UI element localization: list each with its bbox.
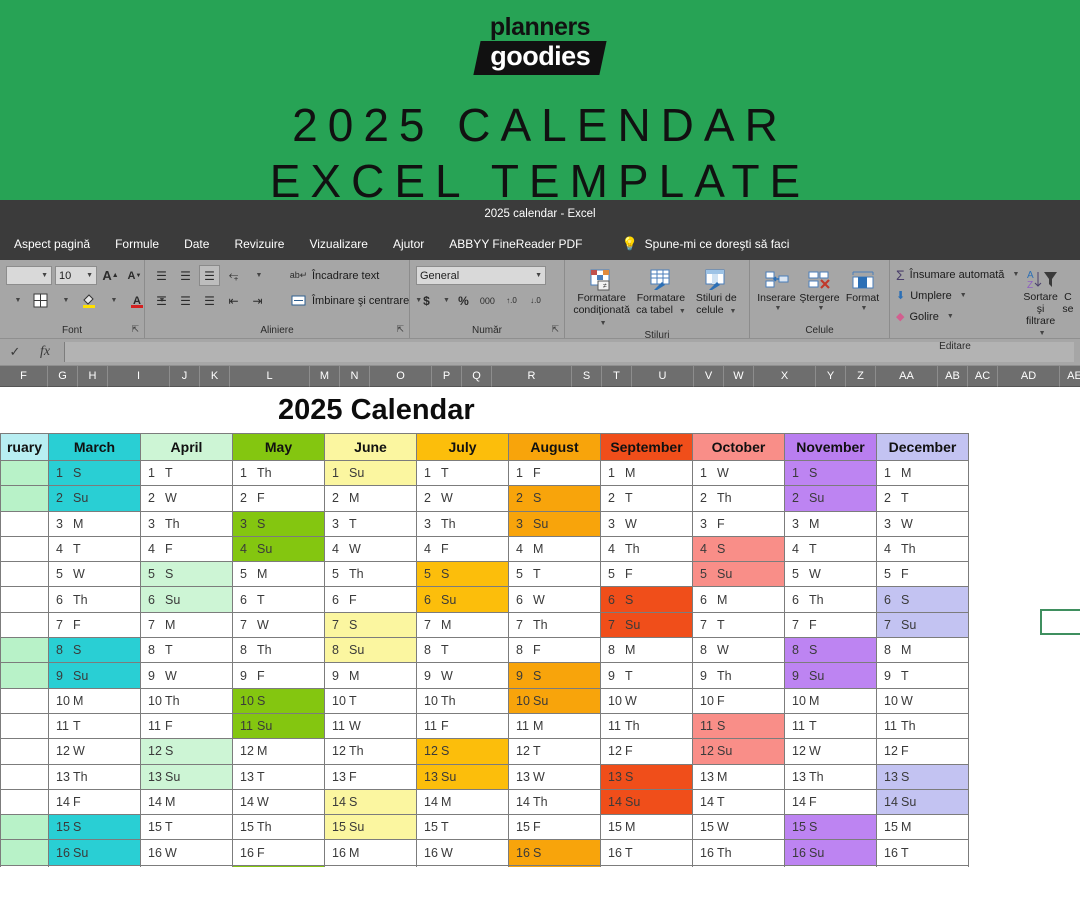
ribbon-tab-aspect-pagina[interactable]: Aspect pagină [14, 237, 90, 251]
calendar-cell[interactable] [1, 739, 49, 764]
calendar-cell[interactable]: 8S [49, 638, 141, 663]
calendar-cell[interactable]: 3S [233, 511, 325, 536]
calendar-cell[interactable]: 8T [141, 638, 233, 663]
ribbon-tab-abbyy-finereader[interactable]: ABBYY FineReader PDF [449, 237, 582, 251]
column-header-u[interactable]: U [632, 366, 694, 387]
calendar-cell[interactable]: 8S [785, 638, 877, 663]
calendar-cell[interactable]: 17Th [141, 865, 233, 867]
font-name-box[interactable]: ▼ [6, 266, 52, 285]
calendar-cell[interactable] [1, 612, 49, 637]
calendar-cell[interactable]: 12W [785, 739, 877, 764]
month-header-may[interactable]: May [233, 434, 325, 461]
cell-styles-button[interactable]: Stiluri de celule ▼ [690, 265, 743, 317]
calendar-cell[interactable]: 5S [417, 562, 509, 587]
align-right-icon[interactable]: ☰ [199, 290, 220, 311]
calendar-cell[interactable]: 11F [417, 713, 509, 738]
weekday-abbr: T [73, 719, 81, 733]
column-header-w[interactable]: W [724, 366, 754, 387]
column-header-l[interactable]: L [230, 366, 310, 387]
calendar-cell[interactable]: 3T [325, 511, 417, 536]
calendar-cell[interactable]: 11F [141, 713, 233, 738]
grow-font-icon[interactable]: A▲ [100, 265, 121, 286]
calendar-cell[interactable]: 6Th [49, 587, 141, 612]
calendar-cell[interactable]: 8M [877, 638, 969, 663]
calendar-cell[interactable]: 6S [601, 587, 693, 612]
calendar-cell[interactable]: 14S [325, 789, 417, 814]
calendar-cell[interactable]: 14Su [601, 789, 693, 814]
font-size-box[interactable]: 10▼ [55, 266, 97, 285]
autosum-caret-icon[interactable]: ▼ [1012, 271, 1019, 278]
calendar-cell[interactable]: 3Su [509, 511, 601, 536]
column-header-t[interactable]: T [602, 366, 632, 387]
font-color-icon[interactable]: A [126, 290, 147, 311]
calendar-cell[interactable]: 5F [877, 562, 969, 587]
calendar-cell[interactable]: 7F [785, 612, 877, 637]
calendar-cell[interactable]: 9T [877, 663, 969, 688]
column-header-x[interactable]: X [754, 366, 816, 387]
calendar-cell[interactable]: 3W [601, 511, 693, 536]
calendar-cell[interactable]: 14Th [509, 789, 601, 814]
borders-icon[interactable] [30, 290, 51, 311]
calendar-cell[interactable]: 11T [49, 713, 141, 738]
calendar-cell[interactable] [1, 486, 49, 511]
calendar-cell[interactable] [1, 562, 49, 587]
calendar-cell[interactable]: 16Su [785, 840, 877, 865]
calendar-cell[interactable]: 17W [877, 865, 969, 867]
column-header-i[interactable]: I [108, 366, 170, 387]
calendar-cell[interactable]: 11S [693, 713, 785, 738]
month-header-june[interactable]: June [325, 434, 417, 461]
calendar-cell[interactable]: 5F [601, 562, 693, 587]
calendar-cell[interactable]: 12T [509, 739, 601, 764]
column-header-j[interactable]: J [170, 366, 200, 387]
calendar-cell[interactable]: 2W [417, 486, 509, 511]
calendar-cell[interactable]: 10Th [141, 688, 233, 713]
calendar-cell[interactable]: 13W [509, 764, 601, 789]
fx-icon[interactable]: fx [30, 339, 60, 366]
calendar-cell[interactable] [1, 865, 49, 867]
calendar-cell[interactable]: 3Th [417, 511, 509, 536]
clear-button[interactable]: ◆ Golire ▼ [896, 306, 1019, 327]
numar-dialog-launcher-icon[interactable]: ⇱ [551, 322, 559, 337]
calendar-cell[interactable]: 15S [785, 815, 877, 840]
calendar-cell[interactable]: 10W [601, 688, 693, 713]
calendar-cell[interactable]: 3Th [141, 511, 233, 536]
calendar-cell[interactable]: 14F [785, 789, 877, 814]
align-top-icon[interactable]: ☰ [151, 265, 172, 286]
calendar-cell[interactable]: 12S [141, 739, 233, 764]
calendar-cell[interactable]: 4Su [233, 536, 325, 561]
calendar-cell[interactable] [1, 789, 49, 814]
calendar-cell[interactable] [1, 511, 49, 536]
column-header-ae[interactable]: AE [1060, 366, 1080, 387]
calendar-cell[interactable]: 13S [601, 764, 693, 789]
calendar-cell[interactable]: 7M [417, 612, 509, 637]
calendar-cell[interactable]: 10W [877, 688, 969, 713]
decrease-indent-icon[interactable]: ⇤ [223, 290, 244, 311]
column-header-k[interactable]: K [200, 366, 230, 387]
orientation-icon[interactable]: ⥆ [223, 265, 244, 286]
align-bottom-icon[interactable]: ☰ [199, 265, 220, 286]
delete-cells-caret-icon[interactable]: ▼ [818, 305, 825, 313]
fill-caret-icon[interactable]: ▼ [960, 292, 967, 299]
calendar-cell[interactable]: 10M [785, 688, 877, 713]
find-select-button[interactable]: C se [1062, 264, 1074, 316]
calendar-cell[interactable]: 2T [601, 486, 693, 511]
calendar-cell[interactable]: 4T [49, 536, 141, 561]
calendar-cell[interactable]: 5Su [693, 562, 785, 587]
column-header-aa[interactable]: AA [876, 366, 938, 387]
calendar-cell[interactable]: 3M [785, 511, 877, 536]
calendar-cell[interactable]: 10S [233, 688, 325, 713]
calendar-cell[interactable]: 8T [417, 638, 509, 663]
calendar-cell[interactable]: 12W [49, 739, 141, 764]
calendar-cell[interactable]: 7Su [601, 612, 693, 637]
calendar-cell[interactable]: 1S [785, 461, 877, 486]
calendar-cell[interactable]: 4F [141, 536, 233, 561]
calendar-cell[interactable]: 2T [877, 486, 969, 511]
calendar-cell[interactable]: 1T [141, 461, 233, 486]
weekday-abbr: W [441, 491, 453, 505]
day-number: 1 [884, 466, 901, 480]
calendar-cell[interactable]: 1M [601, 461, 693, 486]
month-header-august[interactable]: August [509, 434, 601, 461]
calendar-cell[interactable]: 4M [509, 536, 601, 561]
calendar-cell[interactable]: 5T [509, 562, 601, 587]
calendar-cell[interactable]: 13Th [49, 764, 141, 789]
calendar-cell[interactable]: 12F [601, 739, 693, 764]
calendar-cell[interactable]: 6F [325, 587, 417, 612]
weekday-abbr: M [717, 770, 727, 784]
weekday-abbr: Su [349, 466, 364, 480]
calendar-cell[interactable]: 17W [601, 865, 693, 867]
calendar-cell[interactable]: 3M [49, 511, 141, 536]
calendar-cell[interactable]: 3F [693, 511, 785, 536]
month-header-december[interactable]: December [877, 434, 969, 461]
column-header-h[interactable]: H [78, 366, 108, 387]
calendar-cell[interactable]: 2M [325, 486, 417, 511]
calendar-cell[interactable]: 4Th [601, 536, 693, 561]
calendar-cell[interactable]: 15T [417, 815, 509, 840]
calendar-cell[interactable] [1, 587, 49, 612]
calendar-cell[interactable]: 15Su [325, 815, 417, 840]
weekday-abbr: W [717, 643, 729, 657]
calendar-cell[interactable]: 17F [693, 865, 785, 867]
sort-filter-button[interactable]: A Z Sortare şi filtrare ▼ [1023, 264, 1057, 339]
calendar-cell[interactable]: 6Su [417, 587, 509, 612]
wrap-text-icon[interactable]: ab↵ [288, 265, 309, 286]
month-header-september[interactable]: September [601, 434, 693, 461]
column-header-ad[interactable]: AD [998, 366, 1060, 387]
day-number: 4 [148, 542, 165, 556]
calendar-cell[interactable]: 16T [877, 840, 969, 865]
column-header-v[interactable]: V [694, 366, 724, 387]
format-cells-caret-icon[interactable]: ▼ [861, 305, 868, 313]
insert-cells-caret-icon[interactable]: ▼ [775, 305, 782, 313]
column-header-f[interactable]: F [0, 366, 48, 387]
calendar-cell[interactable]: 10M [49, 688, 141, 713]
calendar-cell[interactable]: 10Su [509, 688, 601, 713]
column-header-z[interactable]: Z [846, 366, 876, 387]
calendar-cell[interactable]: 17Th [417, 865, 509, 867]
currency-caret-icon[interactable]: ▼ [443, 297, 450, 304]
calendar-cell[interactable]: 7Su [877, 612, 969, 637]
delete-cells-button[interactable]: Ştergere ▼ [799, 265, 840, 313]
calendar-cell[interactable]: 8Th [233, 638, 325, 663]
calendar-cell[interactable]: 7S [325, 612, 417, 637]
month-header-october[interactable]: October [693, 434, 785, 461]
column-header-s[interactable]: S [572, 366, 602, 387]
calendar-cell[interactable]: 14F [49, 789, 141, 814]
ribbon-tab-revizuire[interactable]: Revizuire [234, 237, 284, 251]
calendar-cell[interactable]: 13Su [141, 764, 233, 789]
aliniere-dialog-launcher-icon[interactable]: ⇱ [396, 322, 404, 337]
month-header-april[interactable]: April [141, 434, 233, 461]
calendar-cell[interactable]: 7M [141, 612, 233, 637]
calendar-cell[interactable]: 14M [417, 789, 509, 814]
column-header-n[interactable]: N [340, 366, 370, 387]
calendar-cell[interactable]: 15S [49, 815, 141, 840]
percent-icon[interactable]: % [453, 290, 474, 311]
calendar-cell[interactable] [1, 764, 49, 789]
calendar-cell[interactable]: 1Su [325, 461, 417, 486]
calendar-cell[interactable]: 2Su [785, 486, 877, 511]
calendar-cell[interactable] [1, 840, 49, 865]
calendar-cell[interactable]: 6W [509, 587, 601, 612]
calendar-cell[interactable]: 15T [141, 815, 233, 840]
calendar-cell[interactable]: 1S [49, 461, 141, 486]
selected-cell[interactable] [1040, 609, 1080, 635]
calendar-cell[interactable]: 2Su [49, 486, 141, 511]
calendar-cell[interactable]: 9F [233, 663, 325, 688]
font-dialog-launcher-icon[interactable]: ⇱ [131, 322, 139, 337]
weekday-abbr: M [257, 567, 267, 581]
calendar-cell[interactable] [1, 663, 49, 688]
calendar-cell[interactable]: 4S [693, 536, 785, 561]
column-header-o[interactable]: O [370, 366, 432, 387]
increase-decimal-icon[interactable]: ↑.0 [501, 290, 522, 311]
calendar-row: 13Th13Su13T13F13Su13W13S13M13Th13S [1, 764, 969, 789]
calendar-cell[interactable]: 12S [417, 739, 509, 764]
calendar-cell[interactable]: 16F [233, 840, 325, 865]
calendar-cell[interactable]: 15W [693, 815, 785, 840]
calendar-cell[interactable]: 6Th [785, 587, 877, 612]
autosum-button[interactable]: Σ Însumare automată ▼ [896, 264, 1019, 285]
calendar-cell[interactable]: 3W [877, 511, 969, 536]
calendar-cell[interactable]: 1F [509, 461, 601, 486]
calendar-cell[interactable]: 10F [693, 688, 785, 713]
calendar-cell[interactable] [1, 638, 49, 663]
calendar-cell[interactable]: 4Th [877, 536, 969, 561]
calendar-cell[interactable]: 5Th [325, 562, 417, 587]
calendar-cell[interactable]: 11W [325, 713, 417, 738]
column-header-r[interactable]: R [492, 366, 572, 387]
column-header-ab[interactable]: AB [938, 366, 968, 387]
conditional-formatting-button[interactable]: ≠ Formatare condiţionată ▼ [571, 265, 632, 328]
comma-style-icon[interactable]: 000 [477, 290, 498, 311]
calendar-cell[interactable]: 5W [785, 562, 877, 587]
calendar-cell[interactable]: 8W [693, 638, 785, 663]
calendar-cell[interactable]: 8F [509, 638, 601, 663]
ribbon-tab-vizualizare[interactable]: Vizualizare [309, 237, 367, 251]
font-style-caret-icon[interactable]: ▼ [6, 290, 27, 311]
calendar-cell[interactable]: 17Su [509, 865, 601, 867]
calendar-cell[interactable]: 17T [325, 865, 417, 867]
align-center-icon[interactable]: ☰ [175, 290, 196, 311]
checkmark-icon[interactable]: ✓ [0, 339, 30, 366]
month-header-july[interactable]: July [417, 434, 509, 461]
calendar-cell[interactable]: 2S [509, 486, 601, 511]
calendar-cell[interactable]: 1T [417, 461, 509, 486]
calendar-cell[interactable]: 13F [325, 764, 417, 789]
calendar-cell[interactable] [1, 461, 49, 486]
calendar-cell[interactable]: 2W [141, 486, 233, 511]
tell-me-box[interactable]: 💡 Spune-mi ce doreşti să faci [621, 236, 789, 252]
currency-icon[interactable]: $ [416, 290, 437, 311]
calendar-cell[interactable]: 17M [785, 865, 877, 867]
merge-center-icon[interactable] [288, 290, 309, 311]
merge-center-label[interactable]: Îmbinare şi centrare [312, 295, 409, 307]
calendar-cell[interactable]: 11T [785, 713, 877, 738]
calendar-cell[interactable]: 11Th [877, 713, 969, 738]
calendar-cell[interactable]: 12Su [693, 739, 785, 764]
calendar-cell[interactable] [1, 815, 49, 840]
calendar-cell[interactable]: 5M [233, 562, 325, 587]
calendar-cell[interactable]: 2Th [693, 486, 785, 511]
column-header-g[interactable]: G [48, 366, 78, 387]
calendar-cell[interactable]: 6Su [141, 587, 233, 612]
calendar-cell[interactable]: 1Th [233, 461, 325, 486]
calendar-cell[interactable]: 9T [601, 663, 693, 688]
calendar-cell[interactable]: 9M [325, 663, 417, 688]
calendar-cell[interactable]: 1M [877, 461, 969, 486]
column-header-ac[interactable]: AC [968, 366, 998, 387]
calendar-cell[interactable]: 14M [141, 789, 233, 814]
calendar-cell[interactable] [1, 713, 49, 738]
calendar-cell[interactable]: 17M [49, 865, 141, 867]
calendar-cell[interactable] [1, 536, 49, 561]
calendar-cell[interactable]: 14Su [877, 789, 969, 814]
month-header-november[interactable]: November [785, 434, 877, 461]
calendar-cell[interactable]: 13M [693, 764, 785, 789]
weekday-abbr: T [533, 744, 541, 758]
calendar-cell[interactable]: 9Th [693, 663, 785, 688]
month-header-march[interactable]: March [49, 434, 141, 461]
insert-cells-button[interactable]: Inserare ▼ [756, 265, 797, 313]
calendar-cell[interactable]: 9S [509, 663, 601, 688]
increase-indent-icon[interactable]: ⇥ [247, 290, 268, 311]
calendar-cell[interactable]: 15M [601, 815, 693, 840]
calendar-cell[interactable]: 8M [601, 638, 693, 663]
calendar-cell[interactable]: 15M [877, 815, 969, 840]
ribbon-tab-date[interactable]: Date [184, 237, 209, 251]
clear-caret-icon[interactable]: ▼ [947, 313, 954, 320]
format-as-table-button[interactable]: Formatare ca tabel ▼ [634, 265, 687, 317]
ribbon-tab-formule[interactable]: Formule [115, 237, 159, 251]
column-header-y[interactable]: Y [816, 366, 846, 387]
calendar-cell[interactable]: 4W [325, 536, 417, 561]
weekday-abbr: S [625, 770, 633, 784]
calendar-cell[interactable]: 17S [233, 865, 325, 867]
shrink-font-icon[interactable]: A▼ [124, 265, 145, 286]
align-middle-icon[interactable]: ☰ [175, 265, 196, 286]
ribbon-tab-ajutor[interactable]: Ajutor [393, 237, 424, 251]
calendar-cell[interactable]: 16M [325, 840, 417, 865]
calendar-cell[interactable]: 7Th [509, 612, 601, 637]
calendar-cell[interactable] [1, 688, 49, 713]
day-number: 2 [608, 491, 625, 505]
format-cells-button[interactable]: Format ▼ [842, 265, 883, 313]
decrease-decimal-icon[interactable]: ↓.0 [525, 290, 546, 311]
calendar-cell[interactable]: 16W [417, 840, 509, 865]
calendar-cell[interactable]: 10Th [417, 688, 509, 713]
calendar-cell[interactable]: 1W [693, 461, 785, 486]
calendar-cell[interactable]: 8Su [325, 638, 417, 663]
fill-button[interactable]: ⬇ Umplere ▼ [896, 285, 1019, 306]
column-header-m[interactable]: M [310, 366, 340, 387]
calendar-cell[interactable]: 9Su [49, 663, 141, 688]
calendar-cell[interactable]: 6M [693, 587, 785, 612]
calendar-cell[interactable]: 6S [877, 587, 969, 612]
calendar-cell[interactable]: 12M [233, 739, 325, 764]
borders-caret-icon[interactable]: ▼ [54, 290, 75, 311]
number-format-box[interactable]: General▼ [416, 266, 546, 285]
fill-color-icon[interactable] [78, 290, 99, 311]
calendar-cell[interactable]: 5W [49, 562, 141, 587]
calendar-cell[interactable]: 16Th [693, 840, 785, 865]
column-header-p[interactable]: P [432, 366, 462, 387]
calendar-cell[interactable]: 7F [49, 612, 141, 637]
calendar-cell[interactable]: 11Th [601, 713, 693, 738]
orientation-caret-icon[interactable]: ▼ [247, 265, 268, 286]
month-header-february[interactable]: ruary [1, 434, 49, 461]
weekday-abbr: S [533, 846, 541, 860]
column-header-q[interactable]: Q [462, 366, 492, 387]
calendar-cell[interactable]: 13Su [417, 764, 509, 789]
calendar-cell[interactable]: 12Th [325, 739, 417, 764]
calendar-cell[interactable]: 9W [141, 663, 233, 688]
calendar-cell[interactable]: 11M [509, 713, 601, 738]
calendar-cell[interactable]: 9Su [785, 663, 877, 688]
calendar-cell[interactable]: 14T [693, 789, 785, 814]
calendar-cell[interactable]: 11Su [233, 713, 325, 738]
calendar-cell[interactable]: 4T [785, 536, 877, 561]
calendar-cell[interactable]: 6T [233, 587, 325, 612]
calendar-cell[interactable]: 13S [877, 764, 969, 789]
calendar-cell[interactable]: 9W [417, 663, 509, 688]
calendar-cell[interactable]: 10T [325, 688, 417, 713]
calendar-cell[interactable]: 13T [233, 764, 325, 789]
fill-color-caret-icon[interactable]: ▼ [102, 290, 123, 311]
calendar-cell[interactable]: 2F [233, 486, 325, 511]
calendar-cell[interactable]: 5S [141, 562, 233, 587]
calendar-cell[interactable]: 16W [141, 840, 233, 865]
calendar-cell[interactable]: 4F [417, 536, 509, 561]
calendar-cell[interactable]: 13Th [785, 764, 877, 789]
wrap-text-label[interactable]: Încadrare text [312, 270, 379, 282]
calendar-cell[interactable]: 16T [601, 840, 693, 865]
calendar-cell[interactable]: 14W [233, 789, 325, 814]
calendar-cell[interactable]: 7W [233, 612, 325, 637]
calendar-cell[interactable]: 16Su [49, 840, 141, 865]
align-left-icon[interactable]: ☰ [151, 290, 172, 311]
calendar-cell[interactable]: 12F [877, 739, 969, 764]
calendar-cell[interactable]: 15Th [233, 815, 325, 840]
calendar-cell[interactable]: 7T [693, 612, 785, 637]
calendar-cell[interactable]: 16S [509, 840, 601, 865]
calendar-cell[interactable]: 15F [509, 815, 601, 840]
day-number: 8 [884, 643, 901, 657]
